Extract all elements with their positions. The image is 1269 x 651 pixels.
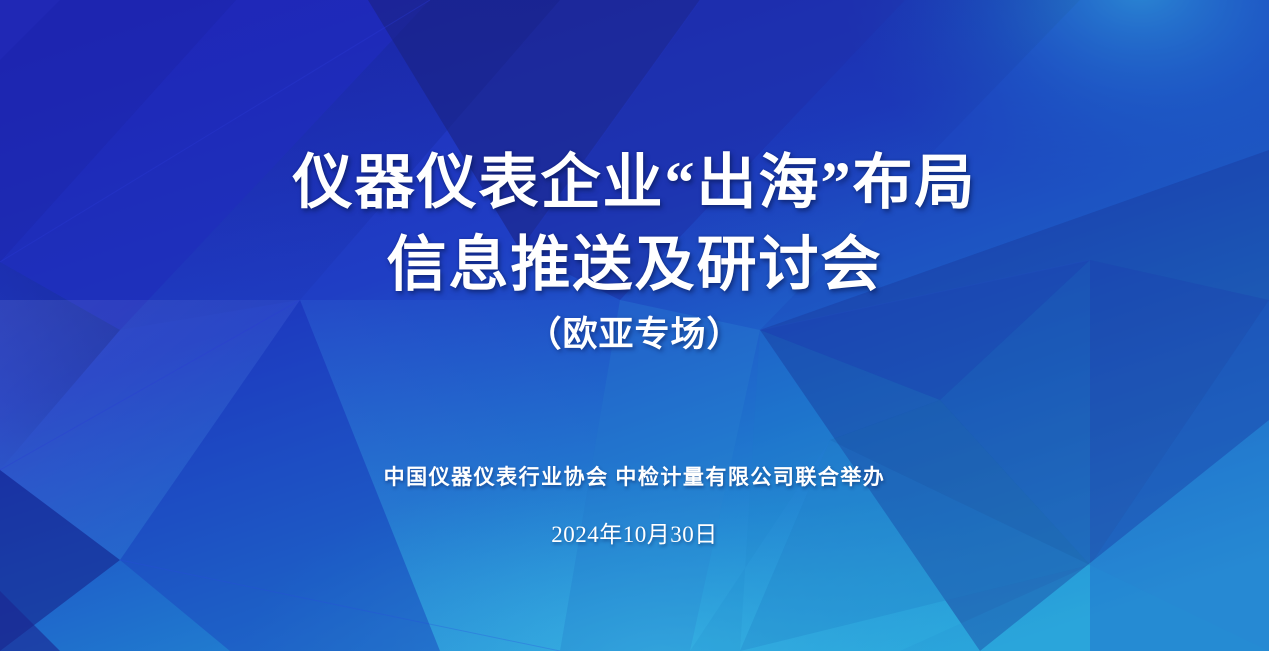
- title-subtitle: （欧亚专场）: [0, 312, 1269, 358]
- event-date: 2024年10月30日: [0, 520, 1269, 550]
- poster-content: 仪器仪表企业“出海”布局 信息推送及研讨会 （欧亚专场） 中国仪器仪表行业协会 …: [0, 0, 1269, 651]
- footer-block: 中国仪器仪表行业协会 中检计量有限公司联合举办 2024年10月30日: [0, 462, 1269, 550]
- title-line-2: 信息推送及研讨会: [0, 224, 1269, 306]
- organizers-text: 中国仪器仪表行业协会 中检计量有限公司联合举办: [0, 462, 1269, 492]
- poster-slide: 仪器仪表企业“出海”布局 信息推送及研讨会 （欧亚专场） 中国仪器仪表行业协会 …: [0, 0, 1269, 651]
- title-block: 仪器仪表企业“出海”布局 信息推送及研讨会 （欧亚专场）: [0, 142, 1269, 358]
- title-line-1: 仪器仪表企业“出海”布局: [0, 142, 1269, 224]
